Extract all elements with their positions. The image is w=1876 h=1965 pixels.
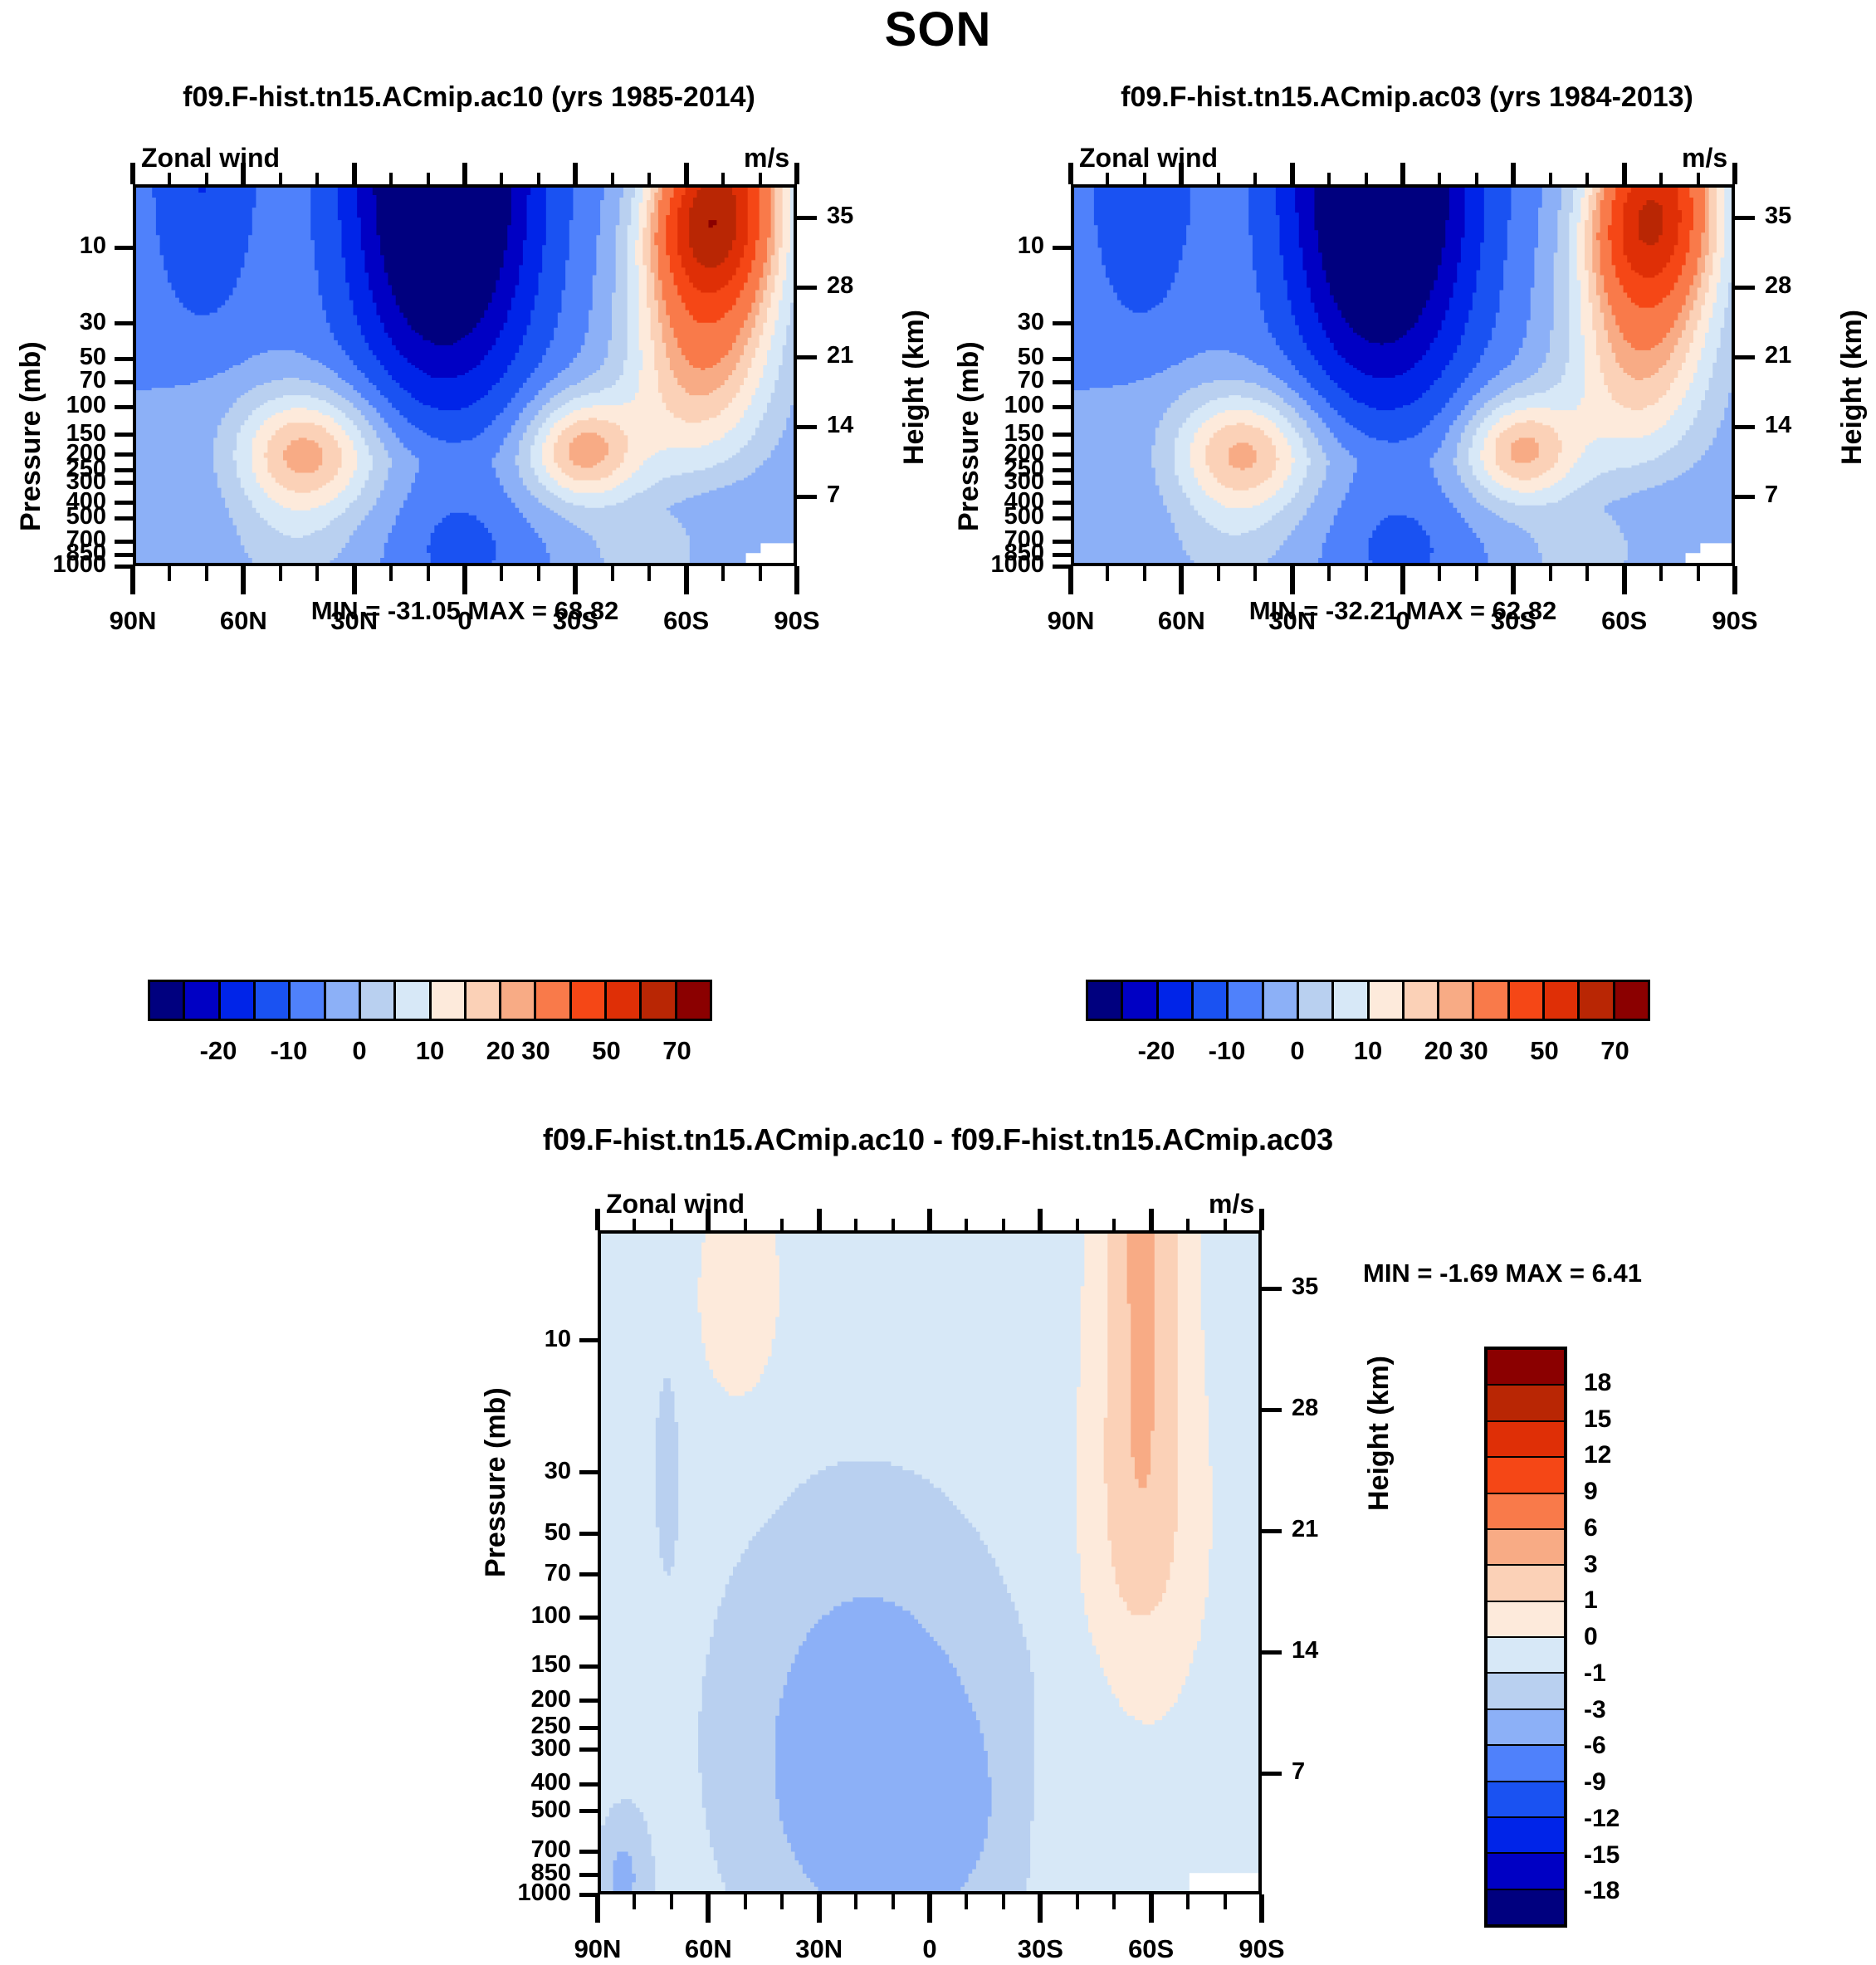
xtick-top-mark-ac10-90 bbox=[130, 163, 135, 184]
pressure-label-diff-1: 30 bbox=[457, 1458, 571, 1485]
colorbar-label-6: 50 bbox=[1530, 1036, 1558, 1066]
pressure-label-ac03-0: 10 bbox=[930, 232, 1044, 260]
xtick-mark-ac10--30 bbox=[573, 566, 578, 594]
xtick-top-mark-diff-20 bbox=[854, 1219, 857, 1230]
xtick-top-mark-diff--40 bbox=[1076, 1219, 1079, 1230]
xtick-mark-ac03--40 bbox=[1549, 566, 1552, 581]
xtick-mark-diff--30 bbox=[1038, 1894, 1043, 1923]
xtick-mark-ac10-0 bbox=[462, 566, 467, 594]
ytick-mark-ac10-13 bbox=[115, 565, 133, 569]
height-label-ac03-0: 35 bbox=[1765, 203, 1856, 230]
height-label-ac10-0: 35 bbox=[827, 203, 918, 230]
xtick-mark-ac03-90 bbox=[1068, 566, 1073, 594]
panel-ac10-ylabel: Pressure (mb) bbox=[15, 341, 47, 531]
pressure-label-ac03-5: 150 bbox=[930, 420, 1044, 447]
xtick-top-mark-ac03-20 bbox=[1327, 173, 1331, 184]
xtick-mark-ac10-50 bbox=[279, 566, 282, 581]
height-label-ac03-1: 28 bbox=[1765, 272, 1856, 300]
ytick-mark-ac10-11 bbox=[115, 540, 133, 544]
y2tick-mark-ac03-1 bbox=[1735, 286, 1755, 290]
diff-colorbar-label-14: -18 bbox=[1584, 1877, 1620, 1905]
xtick-top-mark-diff-70 bbox=[670, 1219, 673, 1230]
xtick-top-mark-diff--10 bbox=[965, 1219, 968, 1230]
xtick-mark-ac10-30 bbox=[352, 566, 357, 594]
diff-colorbar-label-0: 18 bbox=[1584, 1369, 1611, 1397]
xtick-top-mark-diff--20 bbox=[1002, 1219, 1005, 1230]
pressure-label-diff-9: 400 bbox=[457, 1769, 571, 1796]
pressure-label-diff-5: 150 bbox=[457, 1651, 571, 1679]
xtick-top-mark-ac03--80 bbox=[1697, 173, 1700, 184]
colorbar-cell-12 bbox=[572, 982, 607, 1019]
xtick-mark-ac10-10 bbox=[427, 566, 430, 581]
xtick-top-mark-ac10--80 bbox=[759, 173, 762, 184]
xtick-mark-ac10-70 bbox=[205, 566, 208, 581]
xtick-mark-diff-50 bbox=[744, 1894, 747, 1909]
xtick-mark-diff--10 bbox=[965, 1894, 968, 1909]
xtick-mark-ac03-20 bbox=[1327, 566, 1331, 581]
pressure-label-ac03-6: 200 bbox=[930, 440, 1044, 467]
xtick-mark-ac10--20 bbox=[537, 566, 540, 581]
panel-diff-colorbar-labels: 18151296310-1-3-6-9-12-15-18 bbox=[1584, 1347, 1683, 1928]
ytick-mark-diff-7 bbox=[579, 1726, 598, 1730]
pressure-label-diff-12: 850 bbox=[457, 1860, 571, 1887]
colorbar-cell-8 bbox=[432, 982, 467, 1019]
colorbar-cell-8 bbox=[1370, 982, 1405, 1019]
ytick-mark-diff-0 bbox=[579, 1338, 598, 1342]
panel-ac10-units: m/s bbox=[744, 143, 789, 174]
xtick-top-mark-diff-50 bbox=[744, 1219, 747, 1230]
diff-colorbar-cell-10 bbox=[1488, 1710, 1564, 1746]
xtick-mark-ac10--40 bbox=[611, 566, 614, 581]
xtick-top-mark-ac03--20 bbox=[1475, 173, 1478, 184]
ytick-mark-diff-13 bbox=[579, 1893, 598, 1897]
panel-ac10-colorbar-labels: -20-1001020305070 bbox=[148, 1036, 712, 1069]
xtick-top-mark-diff--80 bbox=[1224, 1219, 1227, 1230]
xtick-top-mark-ac03-0 bbox=[1400, 163, 1405, 184]
xtick-top-mark-ac10-20 bbox=[389, 173, 393, 184]
colorbar-label-2: 0 bbox=[1290, 1036, 1304, 1066]
colorbar-cell-10 bbox=[1439, 982, 1474, 1019]
panel-diff-units: m/s bbox=[1209, 1189, 1254, 1220]
lat-label-diff-4: 30S bbox=[965, 1934, 1115, 1964]
xtick-mark-ac03--90 bbox=[1732, 566, 1737, 594]
xtick-mark-ac03--60 bbox=[1622, 566, 1627, 594]
pressure-label-diff-8: 300 bbox=[457, 1735, 571, 1762]
colorbar-label-5: 30 bbox=[521, 1036, 550, 1066]
y2tick-mark-ac03-3 bbox=[1735, 425, 1755, 429]
y2tick-mark-diff-1 bbox=[1262, 1408, 1282, 1412]
xtick-top-mark-ac03-30 bbox=[1290, 163, 1295, 184]
diff-colorbar-label-8: -1 bbox=[1584, 1659, 1606, 1688]
pressure-label-ac10-13: 1000 bbox=[0, 551, 106, 579]
diff-colorbar-label-4: 6 bbox=[1584, 1514, 1598, 1542]
xtick-top-mark-ac10--30 bbox=[573, 163, 578, 184]
ytick-mark-diff-5 bbox=[579, 1664, 598, 1669]
ytick-mark-diff-4 bbox=[579, 1616, 598, 1620]
xtick-mark-ac03--70 bbox=[1659, 566, 1663, 581]
ytick-mark-ac10-4 bbox=[115, 405, 133, 409]
ytick-mark-ac03-4 bbox=[1053, 405, 1071, 409]
ytick-mark-ac03-0 bbox=[1053, 246, 1071, 250]
xtick-top-mark-diff--90 bbox=[1259, 1209, 1264, 1230]
xtick-top-mark-ac10-10 bbox=[427, 173, 430, 184]
xtick-top-mark-ac03--70 bbox=[1659, 173, 1663, 184]
panel-ac03-colorbar bbox=[1086, 980, 1650, 1021]
xtick-top-mark-ac10-50 bbox=[279, 173, 282, 184]
diff-colorbar-cell-2 bbox=[1488, 1422, 1564, 1458]
diff-colorbar-cell-13 bbox=[1488, 1818, 1564, 1854]
diff-colorbar-cell-9 bbox=[1488, 1674, 1564, 1709]
ytick-mark-ac10-0 bbox=[115, 246, 133, 250]
lat-label-diff-5: 60S bbox=[1077, 1934, 1226, 1964]
colorbar-label-7: 70 bbox=[1600, 1036, 1629, 1066]
ytick-mark-ac10-1 bbox=[115, 321, 133, 325]
colorbar-cell-14 bbox=[1580, 982, 1615, 1019]
pressure-label-ac03-1: 30 bbox=[930, 309, 1044, 336]
pressure-label-ac03-13: 1000 bbox=[930, 551, 1044, 579]
xtick-top-mark-ac03--60 bbox=[1622, 163, 1627, 184]
xtick-mark-ac03--10 bbox=[1438, 566, 1441, 581]
xtick-top-mark-ac03--50 bbox=[1585, 173, 1589, 184]
panel-ac10-varname: Zonal wind bbox=[141, 143, 280, 174]
xtick-mark-diff-30 bbox=[817, 1894, 822, 1923]
xtick-top-mark-ac03-80 bbox=[1106, 173, 1109, 184]
xtick-mark-diff--80 bbox=[1224, 1894, 1227, 1909]
colorbar-cell-15 bbox=[1615, 982, 1648, 1019]
pressure-label-ac10-1: 30 bbox=[0, 309, 106, 336]
colorbar-cell-2 bbox=[1159, 982, 1194, 1019]
colorbar-label-6: 50 bbox=[592, 1036, 620, 1066]
colorbar-cell-6 bbox=[361, 982, 396, 1019]
colorbar-cell-11 bbox=[1474, 982, 1509, 1019]
colorbar-cell-0 bbox=[150, 982, 185, 1019]
ytick-mark-diff-12 bbox=[579, 1873, 598, 1877]
diff-colorbar-cell-4 bbox=[1488, 1494, 1564, 1530]
ytick-mark-diff-9 bbox=[579, 1782, 598, 1787]
ytick-mark-ac03-2 bbox=[1053, 357, 1071, 361]
ytick-mark-ac03-7 bbox=[1053, 468, 1071, 472]
ytick-mark-diff-3 bbox=[579, 1572, 598, 1576]
xtick-top-mark-diff-0 bbox=[927, 1209, 932, 1230]
pressure-label-ac03-9: 400 bbox=[930, 488, 1044, 516]
xtick-top-mark-ac10--40 bbox=[611, 173, 614, 184]
pressure-label-ac10-12: 850 bbox=[0, 540, 106, 567]
ytick-mark-ac10-5 bbox=[115, 433, 133, 437]
colorbar-cell-4 bbox=[291, 982, 325, 1019]
colorbar-label-1: -10 bbox=[1209, 1036, 1246, 1066]
pressure-label-ac03-3: 70 bbox=[930, 367, 1044, 394]
xtick-mark-diff--40 bbox=[1076, 1894, 1079, 1909]
pressure-label-ac03-10: 500 bbox=[930, 503, 1044, 530]
pressure-label-diff-0: 10 bbox=[457, 1326, 571, 1353]
xtick-top-mark-diff-90 bbox=[595, 1209, 600, 1230]
diff-colorbar-cell-11 bbox=[1488, 1746, 1564, 1782]
xtick-mark-ac10--50 bbox=[647, 566, 651, 581]
xtick-top-mark-diff-80 bbox=[633, 1219, 636, 1230]
xtick-mark-diff-0 bbox=[927, 1894, 932, 1923]
pressure-label-ac03-11: 700 bbox=[930, 526, 1044, 554]
pressure-label-ac03-2: 50 bbox=[930, 344, 1044, 371]
xtick-top-mark-ac10--60 bbox=[684, 163, 689, 184]
xtick-top-mark-ac03--40 bbox=[1549, 173, 1552, 184]
xtick-mark-ac03-60 bbox=[1179, 566, 1184, 594]
xtick-mark-ac03-70 bbox=[1143, 566, 1146, 581]
diff-colorbar-cell-7 bbox=[1488, 1602, 1564, 1638]
xtick-mark-ac10-60 bbox=[241, 566, 246, 594]
diff-colorbar-cell-0 bbox=[1488, 1350, 1564, 1386]
colorbar-label-0: -20 bbox=[200, 1036, 237, 1066]
panel-ac03-plot-area bbox=[1071, 184, 1735, 566]
diff-colorbar-label-11: -9 bbox=[1584, 1768, 1606, 1796]
xtick-mark-diff-90 bbox=[595, 1894, 600, 1923]
xtick-top-mark-ac03--30 bbox=[1511, 163, 1516, 184]
xtick-mark-diff-80 bbox=[633, 1894, 636, 1909]
diff-colorbar-label-3: 9 bbox=[1584, 1478, 1598, 1506]
y2tick-mark-ac10-4 bbox=[797, 495, 817, 499]
xtick-mark-ac03-50 bbox=[1217, 566, 1220, 581]
colorbar-cell-5 bbox=[326, 982, 361, 1019]
lat-label-diff-0: 90N bbox=[523, 1934, 672, 1964]
colorbar-label-3: 10 bbox=[1354, 1036, 1382, 1066]
colorbar-label-4: 20 bbox=[486, 1036, 515, 1066]
colorbar-cell-3 bbox=[256, 982, 291, 1019]
colorbar-label-2: 0 bbox=[352, 1036, 366, 1066]
xtick-top-mark-diff-10 bbox=[892, 1219, 895, 1230]
ytick-mark-ac10-2 bbox=[115, 357, 133, 361]
xtick-mark-ac10--10 bbox=[500, 566, 503, 581]
colorbar-label-1: -10 bbox=[271, 1036, 308, 1066]
xtick-top-mark-ac10--70 bbox=[721, 173, 725, 184]
diff-colorbar-cell-15 bbox=[1488, 1890, 1564, 1924]
xtick-mark-ac03-30 bbox=[1290, 566, 1295, 594]
y2tick-mark-diff-0 bbox=[1262, 1287, 1282, 1291]
ytick-mark-diff-11 bbox=[579, 1850, 598, 1854]
colorbar-label-3: 10 bbox=[416, 1036, 444, 1066]
ytick-mark-ac10-8 bbox=[115, 481, 133, 485]
ytick-mark-ac10-10 bbox=[115, 516, 133, 521]
xtick-top-mark-ac03--10 bbox=[1438, 173, 1441, 184]
xtick-mark-ac03-10 bbox=[1365, 566, 1368, 581]
xtick-mark-diff--90 bbox=[1259, 1894, 1264, 1923]
xtick-mark-diff-70 bbox=[670, 1894, 673, 1909]
xtick-top-mark-ac03-90 bbox=[1068, 163, 1073, 184]
y2tick-mark-ac03-2 bbox=[1735, 355, 1755, 359]
diff-colorbar-cell-3 bbox=[1488, 1458, 1564, 1493]
xtick-top-mark-ac10--50 bbox=[647, 173, 651, 184]
xtick-mark-diff--70 bbox=[1186, 1894, 1190, 1909]
xtick-mark-ac03--30 bbox=[1511, 566, 1516, 594]
xtick-mark-ac10-40 bbox=[315, 566, 319, 581]
pressure-label-diff-6: 200 bbox=[457, 1686, 571, 1713]
lat-label-diff-2: 30N bbox=[745, 1934, 894, 1964]
pressure-label-ac03-12: 850 bbox=[930, 540, 1044, 567]
y2tick-mark-ac10-1 bbox=[797, 286, 817, 290]
xtick-mark-ac10-20 bbox=[389, 566, 393, 581]
height-label-diff-4: 7 bbox=[1292, 1758, 1383, 1786]
pressure-label-diff-2: 50 bbox=[457, 1519, 571, 1547]
panel-ac03-minmax: MIN = -32.21 MAX = 62.82 bbox=[1071, 596, 1735, 626]
ytick-mark-ac03-10 bbox=[1053, 516, 1071, 521]
diff-colorbar-label-9: -3 bbox=[1584, 1696, 1606, 1724]
colorbar-cell-7 bbox=[396, 982, 431, 1019]
height-label-diff-3: 14 bbox=[1292, 1637, 1383, 1664]
ytick-mark-diff-2 bbox=[579, 1532, 598, 1536]
panel-diff-varname: Zonal wind bbox=[606, 1189, 745, 1220]
xtick-top-mark-ac03-50 bbox=[1217, 173, 1220, 184]
height-label-ac10-4: 7 bbox=[827, 481, 918, 509]
ytick-mark-ac03-11 bbox=[1053, 540, 1071, 544]
y2tick-mark-ac03-4 bbox=[1735, 495, 1755, 499]
ytick-mark-diff-1 bbox=[579, 1470, 598, 1474]
colorbar-cell-1 bbox=[1123, 982, 1158, 1019]
ytick-mark-ac10-3 bbox=[115, 380, 133, 384]
xtick-mark-ac10-80 bbox=[168, 566, 171, 581]
panel-diff-minmax: MIN = -1.69 MAX = 6.41 bbox=[1287, 1259, 1718, 1288]
panel-ac10-plot-area bbox=[133, 184, 797, 566]
panel-diff-plot-area bbox=[598, 1230, 1262, 1894]
colorbar-cell-13 bbox=[607, 982, 642, 1019]
ytick-mark-ac03-6 bbox=[1053, 452, 1071, 457]
pressure-label-diff-10: 500 bbox=[457, 1796, 571, 1824]
xtick-top-mark-ac10--20 bbox=[537, 173, 540, 184]
ytick-mark-diff-8 bbox=[579, 1747, 598, 1752]
ytick-mark-ac03-8 bbox=[1053, 481, 1071, 485]
xtick-top-mark-ac10-70 bbox=[205, 173, 208, 184]
panel-ac03-units: m/s bbox=[1682, 143, 1727, 174]
y2tick-mark-diff-3 bbox=[1262, 1650, 1282, 1655]
colorbar-cell-14 bbox=[642, 982, 677, 1019]
height-label-ac10-1: 28 bbox=[827, 272, 918, 300]
colorbar-cell-12 bbox=[1510, 982, 1545, 1019]
xtick-top-mark-ac10-40 bbox=[315, 173, 319, 184]
y2tick-mark-diff-2 bbox=[1262, 1529, 1282, 1533]
diff-colorbar-cell-12 bbox=[1488, 1782, 1564, 1818]
panel-diff-title: f09.F-hist.tn15.ACmip.ac10 - f09.F-hist.… bbox=[357, 1122, 1519, 1157]
ytick-mark-ac10-6 bbox=[115, 452, 133, 457]
panel-ac03-varname: Zonal wind bbox=[1079, 143, 1218, 174]
ytick-mark-diff-6 bbox=[579, 1699, 598, 1703]
xtick-top-mark-diff-30 bbox=[817, 1209, 822, 1230]
colorbar-cell-9 bbox=[467, 982, 501, 1019]
ytick-mark-ac10-7 bbox=[115, 468, 133, 472]
diff-colorbar-label-10: -6 bbox=[1584, 1732, 1606, 1760]
y2tick-mark-ac03-0 bbox=[1735, 216, 1755, 220]
panel-ac10-colorbar bbox=[148, 980, 712, 1021]
xtick-mark-ac10--80 bbox=[759, 566, 762, 581]
panel-diff-y2label: Height (km) bbox=[1363, 1356, 1395, 1511]
xtick-top-mark-ac10-30 bbox=[352, 163, 357, 184]
height-label-ac03-4: 7 bbox=[1765, 481, 1856, 509]
colorbar-cell-5 bbox=[1264, 982, 1299, 1019]
xtick-top-mark-ac10-0 bbox=[462, 163, 467, 184]
diff-colorbar-cell-6 bbox=[1488, 1566, 1564, 1601]
xtick-mark-diff-60 bbox=[706, 1894, 711, 1923]
xtick-mark-diff--20 bbox=[1002, 1894, 1005, 1909]
ytick-mark-ac03-1 bbox=[1053, 321, 1071, 325]
diff-colorbar-label-5: 3 bbox=[1584, 1551, 1598, 1579]
y2tick-mark-ac10-0 bbox=[797, 216, 817, 220]
panel-ac03-y2label: Height (km) bbox=[1836, 310, 1869, 465]
diff-colorbar-cell-5 bbox=[1488, 1530, 1564, 1566]
diff-colorbar-cell-8 bbox=[1488, 1638, 1564, 1674]
xtick-mark-ac03--80 bbox=[1697, 566, 1700, 581]
pressure-label-ac10-0: 10 bbox=[0, 232, 106, 260]
pressure-label-diff-7: 250 bbox=[457, 1713, 571, 1740]
xtick-mark-ac10--70 bbox=[721, 566, 725, 581]
xtick-mark-ac03-80 bbox=[1106, 566, 1109, 581]
xtick-top-mark-ac03-70 bbox=[1143, 173, 1146, 184]
colorbar-cell-7 bbox=[1334, 982, 1369, 1019]
lat-label-diff-3: 0 bbox=[855, 1934, 1004, 1964]
colorbar-label-7: 70 bbox=[662, 1036, 691, 1066]
colorbar-cell-13 bbox=[1545, 982, 1580, 1019]
ytick-mark-ac10-9 bbox=[115, 501, 133, 505]
diff-colorbar-label-6: 1 bbox=[1584, 1586, 1598, 1615]
ytick-mark-ac03-5 bbox=[1053, 433, 1071, 437]
panel-ac10-minmax: MIN = -31.05 MAX = 68.82 bbox=[133, 596, 797, 626]
xtick-mark-ac03-40 bbox=[1253, 566, 1257, 581]
panel-ac10-y2label: Height (km) bbox=[898, 310, 931, 465]
panel-diff-colorbar bbox=[1484, 1347, 1567, 1928]
diff-colorbar-cell-14 bbox=[1488, 1854, 1564, 1889]
diff-colorbar-cell-1 bbox=[1488, 1386, 1564, 1421]
diff-colorbar-label-12: -12 bbox=[1584, 1805, 1620, 1833]
ytick-mark-ac10-12 bbox=[115, 553, 133, 557]
diff-colorbar-label-2: 12 bbox=[1584, 1441, 1611, 1469]
figure-suptitle: SON bbox=[0, 2, 1876, 57]
diff-colorbar-label-1: 15 bbox=[1584, 1405, 1611, 1434]
ytick-mark-ac03-3 bbox=[1053, 380, 1071, 384]
ytick-mark-ac03-12 bbox=[1053, 553, 1071, 557]
xtick-mark-ac03-0 bbox=[1400, 566, 1405, 594]
colorbar-label-5: 30 bbox=[1459, 1036, 1488, 1066]
colorbar-cell-9 bbox=[1405, 982, 1439, 1019]
pressure-label-ac03-7: 250 bbox=[930, 456, 1044, 483]
diff-colorbar-label-13: -15 bbox=[1584, 1841, 1620, 1870]
colorbar-cell-10 bbox=[501, 982, 536, 1019]
ytick-mark-ac03-9 bbox=[1053, 501, 1071, 505]
panel-diff-ylabel: Pressure (mb) bbox=[480, 1387, 512, 1577]
pressure-label-diff-3: 70 bbox=[457, 1560, 571, 1587]
xtick-mark-ac10--60 bbox=[684, 566, 689, 594]
colorbar-cell-15 bbox=[677, 982, 710, 1019]
pressure-label-diff-11: 700 bbox=[457, 1836, 571, 1864]
colorbar-label-0: -20 bbox=[1138, 1036, 1175, 1066]
xtick-mark-ac03--50 bbox=[1585, 566, 1589, 581]
pressure-label-ac03-8: 300 bbox=[930, 468, 1044, 496]
height-label-diff-2: 21 bbox=[1292, 1516, 1383, 1543]
y2tick-mark-ac10-3 bbox=[797, 425, 817, 429]
colorbar-cell-2 bbox=[221, 982, 256, 1019]
ytick-mark-ac03-13 bbox=[1053, 565, 1071, 569]
y2tick-mark-ac10-2 bbox=[797, 355, 817, 359]
panel-ac03-ylabel: Pressure (mb) bbox=[953, 341, 985, 531]
xtick-top-mark-ac03-10 bbox=[1365, 173, 1368, 184]
ytick-mark-diff-10 bbox=[579, 1809, 598, 1813]
xtick-top-mark-diff-40 bbox=[780, 1219, 784, 1230]
pressure-label-diff-13: 1000 bbox=[457, 1879, 571, 1907]
colorbar-cell-3 bbox=[1194, 982, 1229, 1019]
lat-label-diff-6: 90S bbox=[1187, 1934, 1336, 1964]
xtick-mark-diff-20 bbox=[854, 1894, 857, 1909]
xtick-top-mark-diff--70 bbox=[1186, 1219, 1190, 1230]
xtick-mark-diff-10 bbox=[892, 1894, 895, 1909]
xtick-top-mark-diff--60 bbox=[1149, 1209, 1154, 1230]
pressure-label-diff-4: 100 bbox=[457, 1602, 571, 1630]
colorbar-cell-1 bbox=[185, 982, 220, 1019]
panel-ac03-colorbar-labels: -20-1001020305070 bbox=[1086, 1036, 1650, 1069]
xtick-top-mark-ac03--90 bbox=[1732, 163, 1737, 184]
